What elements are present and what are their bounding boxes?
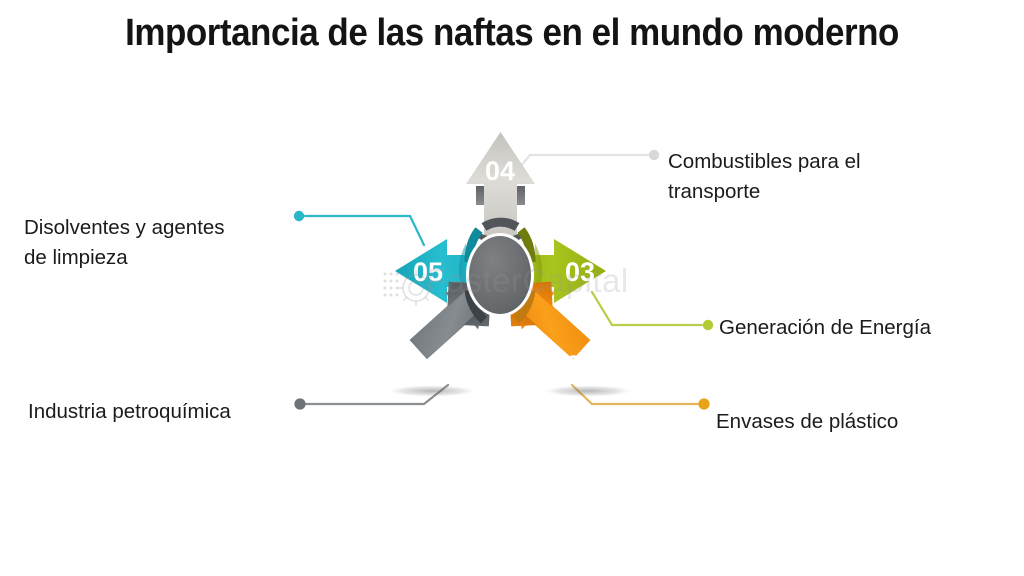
callout-label-01: Industria petroquímica	[28, 397, 308, 427]
connector-dot-05	[294, 211, 304, 221]
radial-arrow-diagram: 04 05 03 01	[0, 0, 1024, 576]
connector-03	[592, 292, 713, 330]
shadow-01	[386, 385, 478, 397]
arrow-02-number: 02	[551, 350, 581, 380]
hub-core	[469, 236, 531, 314]
hub	[466, 222, 534, 320]
callout-label-05: Disolventes y agentes de limpieza	[24, 213, 294, 272]
shadow-02	[542, 385, 634, 397]
callout-label-02: Envases de plástico	[716, 407, 1016, 437]
diagram-svg: 04 05 03 01	[0, 0, 1024, 576]
callout-label-03: Generación de Energía	[719, 313, 1019, 343]
connector-dot-03	[703, 320, 713, 330]
connector-dot-04	[649, 150, 659, 160]
arrow-04-number: 04	[485, 156, 515, 186]
arrow-05-number: 05	[413, 257, 443, 287]
arrow-01-number: 01	[431, 350, 461, 380]
connector-04	[516, 150, 659, 172]
connector-05	[294, 211, 424, 245]
arrow-03-number: 03	[565, 257, 595, 287]
slide-canvas: Importancia de las naftas en el mundo mo…	[0, 0, 1024, 576]
connector-dot-02	[698, 398, 709, 409]
callout-label-04: Combustibles para el transporte	[668, 147, 968, 206]
